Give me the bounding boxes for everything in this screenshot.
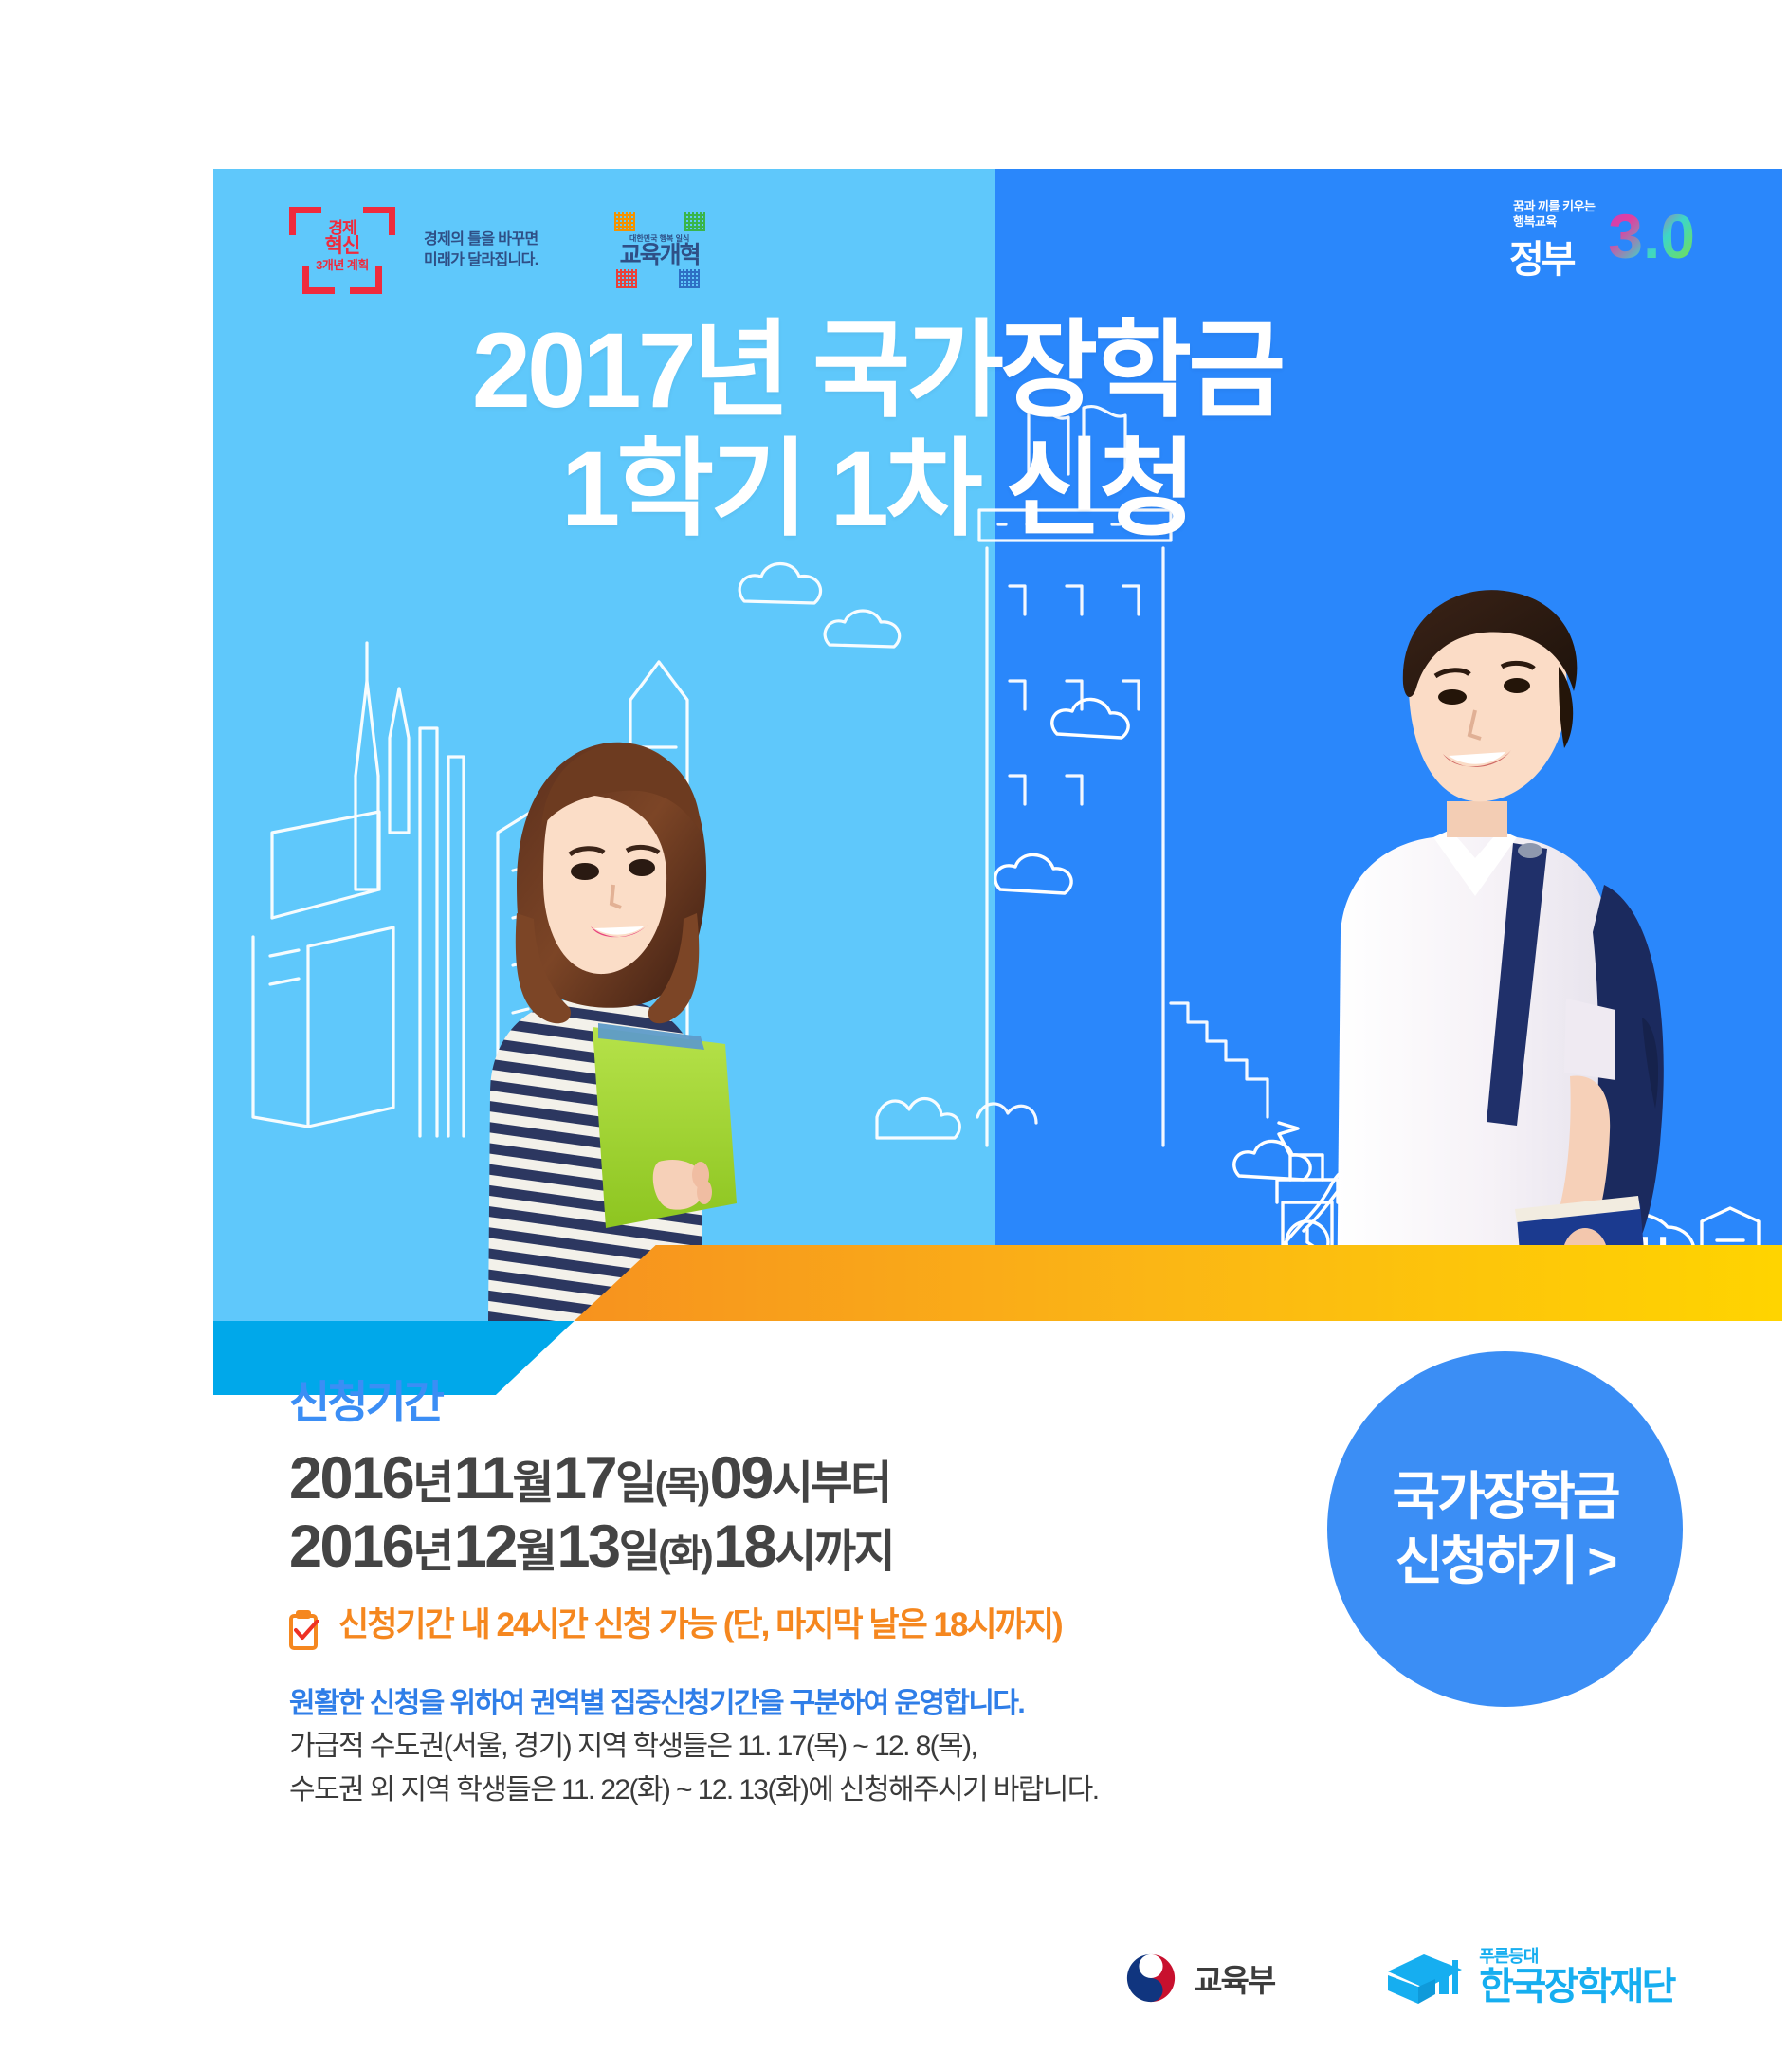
end-dow: (화): [658, 1533, 711, 1575]
government30-version: 3.0: [1608, 205, 1695, 267]
end-day: 13: [556, 1513, 618, 1580]
kosaf-wordmark: 푸른등대 한국장학재단: [1479, 1948, 1674, 2006]
partner-logos: 경제 혁신 3개년 계획 경제의 틀을 바꾸면 미래가 달라집니다. 대한민국 …: [289, 207, 705, 294]
start-year: 2016: [289, 1445, 412, 1512]
dot-grid-green: [684, 212, 705, 231]
end-month-unit: 월: [516, 1527, 556, 1577]
dot-grid-orange: [614, 212, 635, 231]
education-reform-big: 교육개혁: [614, 244, 705, 267]
start-dow: (목): [655, 1465, 708, 1507]
apply-button-label: 국가장학금 신청하기 >: [1392, 1465, 1617, 1592]
start-month: 11: [454, 1445, 513, 1512]
kosaf-label: 한국장학재단: [1479, 1968, 1674, 2006]
application-end-date: 2016년 12월 13일(화) 18시까지: [289, 1513, 1313, 1582]
start-hour: 09: [710, 1445, 772, 1512]
section-label-application-period: 신청기간: [289, 1380, 1313, 1424]
poster-root: EDU 경제 혁신 3개년 계획 경제의 틀을 바꾸면 미래가 달라집니다. 대…: [0, 0, 1788, 2072]
end-hour-unit: 시까지: [775, 1527, 893, 1577]
guidance-line-2: 가급적 수도권(서울, 경기) 지역 학생들은 11. 17(목) ~ 12. …: [289, 1725, 1313, 1769]
application-start-date: 2016년 11월 17일(목) 09시부터: [289, 1445, 1313, 1513]
end-year-unit: 년: [412, 1527, 452, 1577]
guidance-line-1: 원활한 신청을 위하여 권역별 집중신청기간을 구분하여 운영합니다.: [289, 1682, 1313, 1726]
start-day: 17: [554, 1445, 615, 1512]
economy-reform-logo: 경제 혁신 3개년 계획: [289, 207, 395, 294]
economy-logo-line3: 3개년 계획: [297, 259, 388, 271]
dot-grid-red: [616, 269, 637, 288]
start-day-unit: 일: [615, 1458, 655, 1509]
dot-grid-blue: [679, 269, 700, 288]
hero-headline: 2017년 국가장학금 1학기 1차 신청: [213, 311, 1541, 549]
end-day-unit: 일: [619, 1527, 659, 1577]
education-reform-logo: 대한민국 행복 일식 교육개혁: [614, 212, 705, 288]
kosaf-small-label: 푸른등대: [1479, 1948, 1674, 1965]
availability-note-text: 신청기간 내 24시간 신청 가능 (단, 마지막 날은 18시까지): [338, 1606, 1062, 1644]
end-hour: 18: [713, 1513, 775, 1580]
end-month: 12: [454, 1513, 516, 1580]
economy-logo-line2: 혁신: [297, 236, 388, 256]
clipboard-clip: [296, 1610, 311, 1619]
female-student-photo: [374, 600, 811, 1321]
apply-scholarship-button[interactable]: 국가장학금 신청하기 >: [1327, 1351, 1683, 1707]
hero-banner: EDU 경제 혁신 3개년 계획 경제의 틀을 바꾸면 미래가 달라집니다. 대…: [213, 169, 1782, 1321]
ministry-label: 교육부: [1194, 1955, 1274, 2001]
check-mark-icon: [294, 1620, 319, 1642]
start-hour-unit: 시부터: [772, 1458, 890, 1509]
checklist-icon: [289, 1610, 321, 1650]
graduation-cap-icon: [1386, 1947, 1468, 2006]
guidance-line-3: 수도권 외 지역 학생들은 11. 22(화) ~ 12. 13(화)에 신청해…: [289, 1769, 1313, 1812]
start-month-unit: 월: [512, 1458, 552, 1509]
taegeuk-icon: [1123, 1951, 1178, 2006]
economy-logo-line1: 경제: [304, 220, 380, 236]
economy-reform-tagline: 경제의 틀을 바꾸면 미래가 달라집니다.: [424, 229, 538, 270]
end-year: 2016: [289, 1513, 412, 1580]
kosaf-logo: 푸른등대 한국장학재단: [1386, 1947, 1674, 2006]
application-info: 신청기간 2016년 11월 17일(목) 09시부터 2016년 12월 13…: [289, 1380, 1313, 1811]
availability-note: 신청기간 내 24시간 신청 가능 (단, 마지막 날은 18시까지): [289, 1606, 1313, 1650]
government30-logo: 꿈과 끼를 키우는 행복교육 정부 3.0: [1507, 199, 1697, 279]
start-year-unit: 년: [412, 1458, 452, 1509]
ministry-of-education-logo: 교육부: [1123, 1951, 1274, 2006]
footer-logos: 교육부 푸른등대 한국장학재단: [1123, 1947, 1674, 2006]
regional-guidance: 원활한 신청을 위하여 권역별 집중신청기간을 구분하여 운영합니다. 가급적 …: [289, 1682, 1313, 1812]
government30-word: 정부: [1509, 241, 1574, 279]
male-student-photo: [1232, 524, 1725, 1321]
